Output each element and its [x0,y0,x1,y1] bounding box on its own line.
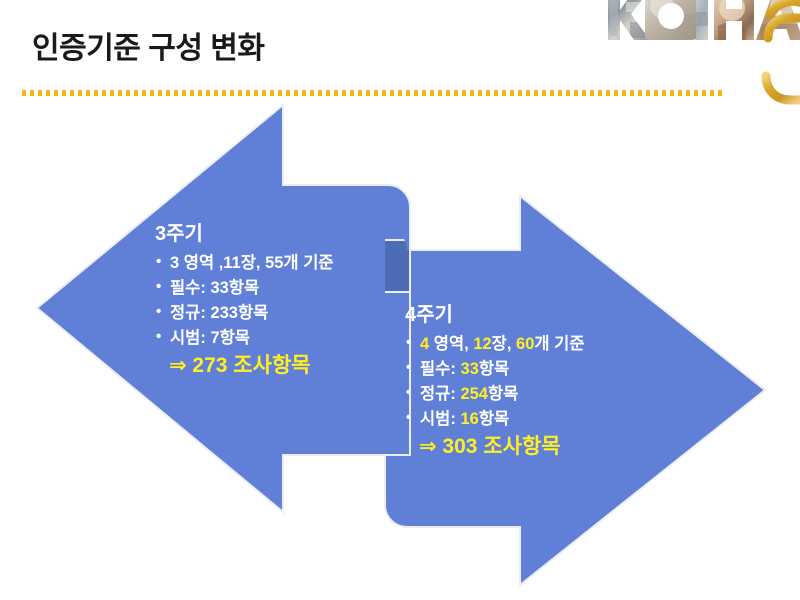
list-item: 시범: 16항목 [405,407,585,432]
bullet-list-cycle4: 4 영역, 12장, 60개 기준 필수: 33항목 정규: 254항목 시범:… [405,332,585,432]
bullet-text: 항목 [488,385,518,403]
list-item: 3 영역 ,11장, 55개 기준 [155,251,334,276]
bullet-text: 필수: [420,360,460,378]
bullet-number: 60 [516,335,534,353]
list-item: 시범: 7항목 [155,326,334,351]
bullet-number: 16 [460,410,478,428]
text-block-cycle4: 4주기 4 영역, 12장, 60개 기준 필수: 33항목 정규: 254항목… [405,303,585,463]
bullet-number: 4 [420,335,429,353]
bullet-number: 254 [460,385,488,403]
list-item: 정규: 233항목 [155,301,334,326]
text-block-cycle3: 3주기 3 영역 ,11장, 55개 기준 필수: 33항목 정규: 233항목… [155,222,334,382]
block-heading-cycle4: 4주기 [405,303,585,328]
bullet-text: 장, [492,335,516,353]
bullet-number: 12 [473,335,491,353]
list-item: 필수: 33항목 [155,276,334,301]
arrow-diagram [0,0,800,600]
bullet-text: 항목 [479,360,509,378]
bullet-text: 항목 [479,410,509,428]
slide-canvas: 인증기준 구성 변화 [0,0,800,600]
bullet-number: 33 [460,360,478,378]
block-heading-cycle3: 3주기 [155,222,334,247]
list-item: 필수: 33항목 [405,357,585,382]
arrow-diagram-svg [0,0,800,600]
bullet-text: 정규: [420,385,460,403]
bullet-text: 개 기준 [534,335,584,353]
bullet-text: 영역, [429,335,473,353]
total-line-cycle3: ⇒ 273 조사항목 [155,351,334,381]
list-item: 4 영역, 12장, 60개 기준 [405,332,585,357]
bullet-list-cycle3: 3 영역 ,11장, 55개 기준 필수: 33항목 정규: 233항목 시범:… [155,251,334,351]
total-line-cycle4: ⇒ 303 조사항목 [405,432,585,462]
list-item: 정규: 254항목 [405,382,585,407]
bullet-text: 시범: [420,410,460,428]
